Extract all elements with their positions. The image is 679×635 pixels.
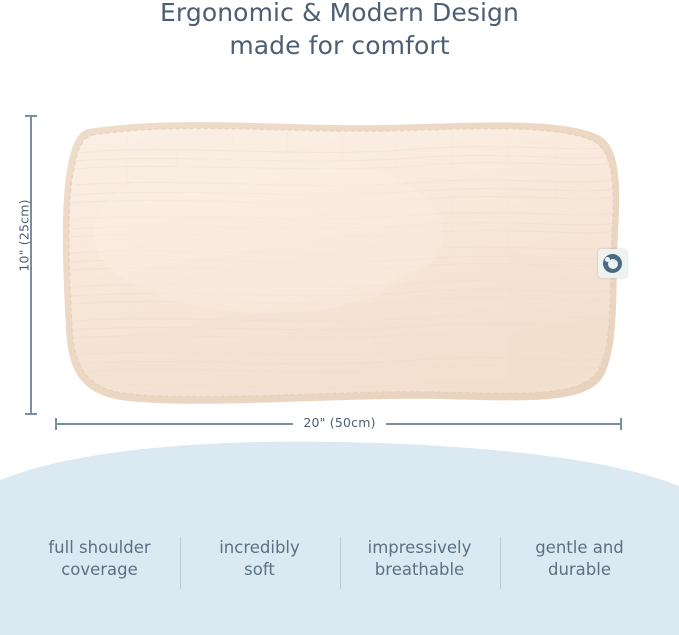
brand-circle-logo-icon xyxy=(603,254,622,273)
page-title: Ergonomic & Modern Design made for comfo… xyxy=(0,0,679,62)
page-title-line-1: Ergonomic & Modern Design xyxy=(0,0,679,29)
feature-item-4-line-1: gentle and xyxy=(506,537,654,559)
product-infographic: Ergonomic & Modern Design made for comfo… xyxy=(0,0,679,635)
height-dimension-label: 10" (25cm) xyxy=(17,186,32,286)
width-dimension-label: 20" (50cm) xyxy=(0,415,679,430)
feature-item-2-line-2: soft xyxy=(186,559,334,581)
feature-item-4-line-2: durable xyxy=(506,559,654,581)
page-title-line-2: made for comfort xyxy=(0,29,679,62)
product-image-area: 10" (25cm) xyxy=(0,95,679,440)
feature-list: full shoulder coverage incredibly soft i… xyxy=(0,537,679,582)
feature-item-2-line-1: incredibly xyxy=(186,537,334,559)
feature-item-1-line-2: coverage xyxy=(26,559,174,581)
feature-item-3-line-1: impressively xyxy=(346,537,494,559)
brand-tag xyxy=(598,249,627,278)
feature-item-1: full shoulder coverage xyxy=(20,537,180,582)
feature-item-3-line-2: breathable xyxy=(346,559,494,581)
feature-item-1-line-1: full shoulder xyxy=(26,537,174,559)
feature-item-3: impressively breathable xyxy=(340,537,500,582)
burp-cloth-image xyxy=(58,113,624,413)
feature-item-4: gentle and durable xyxy=(500,537,660,582)
feature-item-2: incredibly soft xyxy=(180,537,340,582)
width-dimension-text: 20" (50cm) xyxy=(293,415,385,430)
